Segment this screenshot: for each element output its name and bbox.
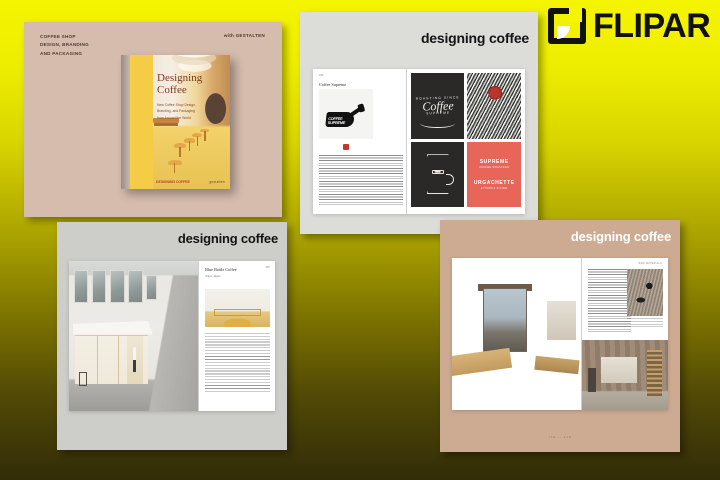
tile-chemex-poster: [411, 142, 465, 208]
page-body-text: [205, 333, 270, 393]
book-cover-title: Designing Coffee: [157, 73, 202, 97]
bar-stool: [588, 368, 596, 392]
facade-window: [128, 270, 142, 303]
page-heading: Blue Bottle Coffee: [205, 267, 261, 273]
facade-window: [110, 270, 124, 303]
flipar-brand-text: FLIPAR: [593, 9, 710, 43]
red-poster-line1-sub: COFFEE ROASTERS: [479, 167, 509, 169]
book-front-face: Designing Coffee New Coffee Shop Design,…: [130, 55, 230, 189]
photo-stool: [192, 133, 202, 137]
photo-stool: [174, 143, 186, 148]
cover-title-line1: Designing: [157, 72, 202, 84]
panel-label-designing-coffee: designing coffee: [421, 30, 529, 46]
page-body-text: [588, 269, 631, 332]
page-subheading: Tokyo, Japan: [205, 275, 261, 278]
red-poster-block-2: URGACHETTE ETHIOPIA FILTER: [474, 180, 515, 190]
photo-stool: [168, 160, 182, 166]
book-object: Designing Coffee New Coffee Shop Design,…: [121, 55, 230, 189]
red-poster-line2: URGACHETTE: [474, 180, 515, 186]
panel-book-cover[interactable]: COFFEE SHOP DESIGN, BRANDING AND PACKAGI…: [24, 22, 282, 217]
interior-counter-rail: [214, 309, 261, 317]
spread-left-page: [69, 261, 198, 411]
book-publisher-label: gestalten: [209, 180, 225, 184]
red-poster-line1: SUPREME: [479, 159, 509, 165]
red-poster-block-1: SUPREME COFFEE ROASTERS: [479, 159, 509, 169]
tile-water-coral-photo: [467, 73, 521, 139]
cover-yellow-band: [130, 55, 153, 189]
spread-left-page: 042 Coffee Supreme Wellington, New Zeala…: [313, 69, 406, 214]
spread-right-page: 087 Blue Bottle Coffee Tokyo, Japan: [199, 261, 275, 411]
red-seal-icon: [343, 144, 349, 150]
pipe-silhouette-logo-icon: COFFEE SUPREME: [326, 101, 366, 127]
page-running-head: RAW MATERIALS: [639, 262, 662, 265]
page-heading: Coffee Supreme: [319, 82, 401, 88]
panel-storefront-spread[interactable]: designing coffee 087 Blue Bottl: [57, 222, 287, 450]
spread-right-page: ROASTING SINCE Coffee SUPREME SUPREME CO…: [407, 69, 525, 214]
spread-right-page: RAW MATERIALS 119: [582, 258, 668, 410]
book-cover-subtitle: New Coffee Shop Design, Branding, and Pa…: [157, 102, 203, 121]
inset-interior-photo: [205, 289, 270, 327]
glazing-mullion: [118, 335, 119, 385]
cover-title-line2: Coffee: [157, 84, 187, 96]
timber-bench-left: [452, 348, 512, 376]
pipe-logo-text: COFFEE SUPREME: [328, 117, 354, 125]
facade-window: [92, 270, 106, 303]
panel-brick-spread[interactable]: designing coffee RAW MATERIALS 119: [440, 220, 680, 452]
book-spread: RAW MATERIALS 119: [452, 258, 668, 410]
street-opening: [483, 288, 527, 352]
book-spread: 087 Blue Bottle Coffee Tokyo, Japan: [69, 261, 275, 411]
page-body-text: [319, 155, 403, 207]
flipar-watermark[interactable]: FLIPAR: [548, 8, 710, 44]
facade-window: [146, 275, 156, 301]
tile-red-poster: SUPREME COFFEE ROASTERS URGACHETTE ETHIO…: [467, 142, 521, 208]
chemex-brewer-icon: [425, 154, 451, 194]
bar-counter: [601, 357, 637, 384]
book-spread: 042 Coffee Supreme Wellington, New Zeala…: [313, 69, 525, 214]
storefront-photograph: [69, 261, 198, 411]
cover-meta-text: COFFEE SHOP DESIGN, BRANDING AND PACKAGI…: [40, 33, 89, 58]
cover-credit-text: with GESTALTEN: [224, 33, 265, 38]
spread-left-page: [452, 258, 581, 410]
tile-lettering-poster: ROASTING SINCE Coffee SUPREME: [411, 73, 465, 139]
panel-folio: 118 — 119: [548, 435, 571, 439]
interior-counter: [547, 301, 575, 341]
photo-caption-text: [627, 318, 663, 327]
page-heading-block: Blue Bottle Coffee Tokyo, Japan: [205, 267, 261, 278]
inset-bar-counter-photo: [582, 340, 668, 410]
page-folio: 087: [266, 266, 270, 269]
flipar-square-logo-icon: [548, 8, 586, 44]
person-figure: [133, 347, 136, 373]
panel-supreme-spread[interactable]: designing coffee 042 Coffee Supreme Well…: [300, 12, 538, 234]
photo-stool: [184, 138, 195, 143]
facade-window: [74, 270, 88, 303]
photo-stool: [200, 129, 209, 133]
panel-label-designing-coffee: designing coffee: [178, 231, 278, 246]
inset-tamper-photo: [627, 269, 663, 316]
poster-swoosh-icon: [420, 119, 454, 128]
timber-bench-right: [534, 356, 579, 374]
street-chair: [79, 372, 87, 386]
brick-passage-photograph: [452, 258, 581, 410]
book-spine: [121, 55, 130, 189]
shop-canopy: [73, 321, 153, 335]
panel-label-designing-coffee: designing coffee: [571, 229, 671, 244]
red-poster-line2-sub: ETHIOPIA FILTER: [474, 188, 515, 190]
book-cover-barcode-label: DESIGNING COFFEE: [156, 180, 190, 184]
glazing-mullion: [97, 335, 98, 385]
wooden-shelf: [647, 350, 662, 396]
page-folio: 042: [319, 74, 323, 77]
logo-card: COFFEE SUPREME: [319, 89, 373, 139]
